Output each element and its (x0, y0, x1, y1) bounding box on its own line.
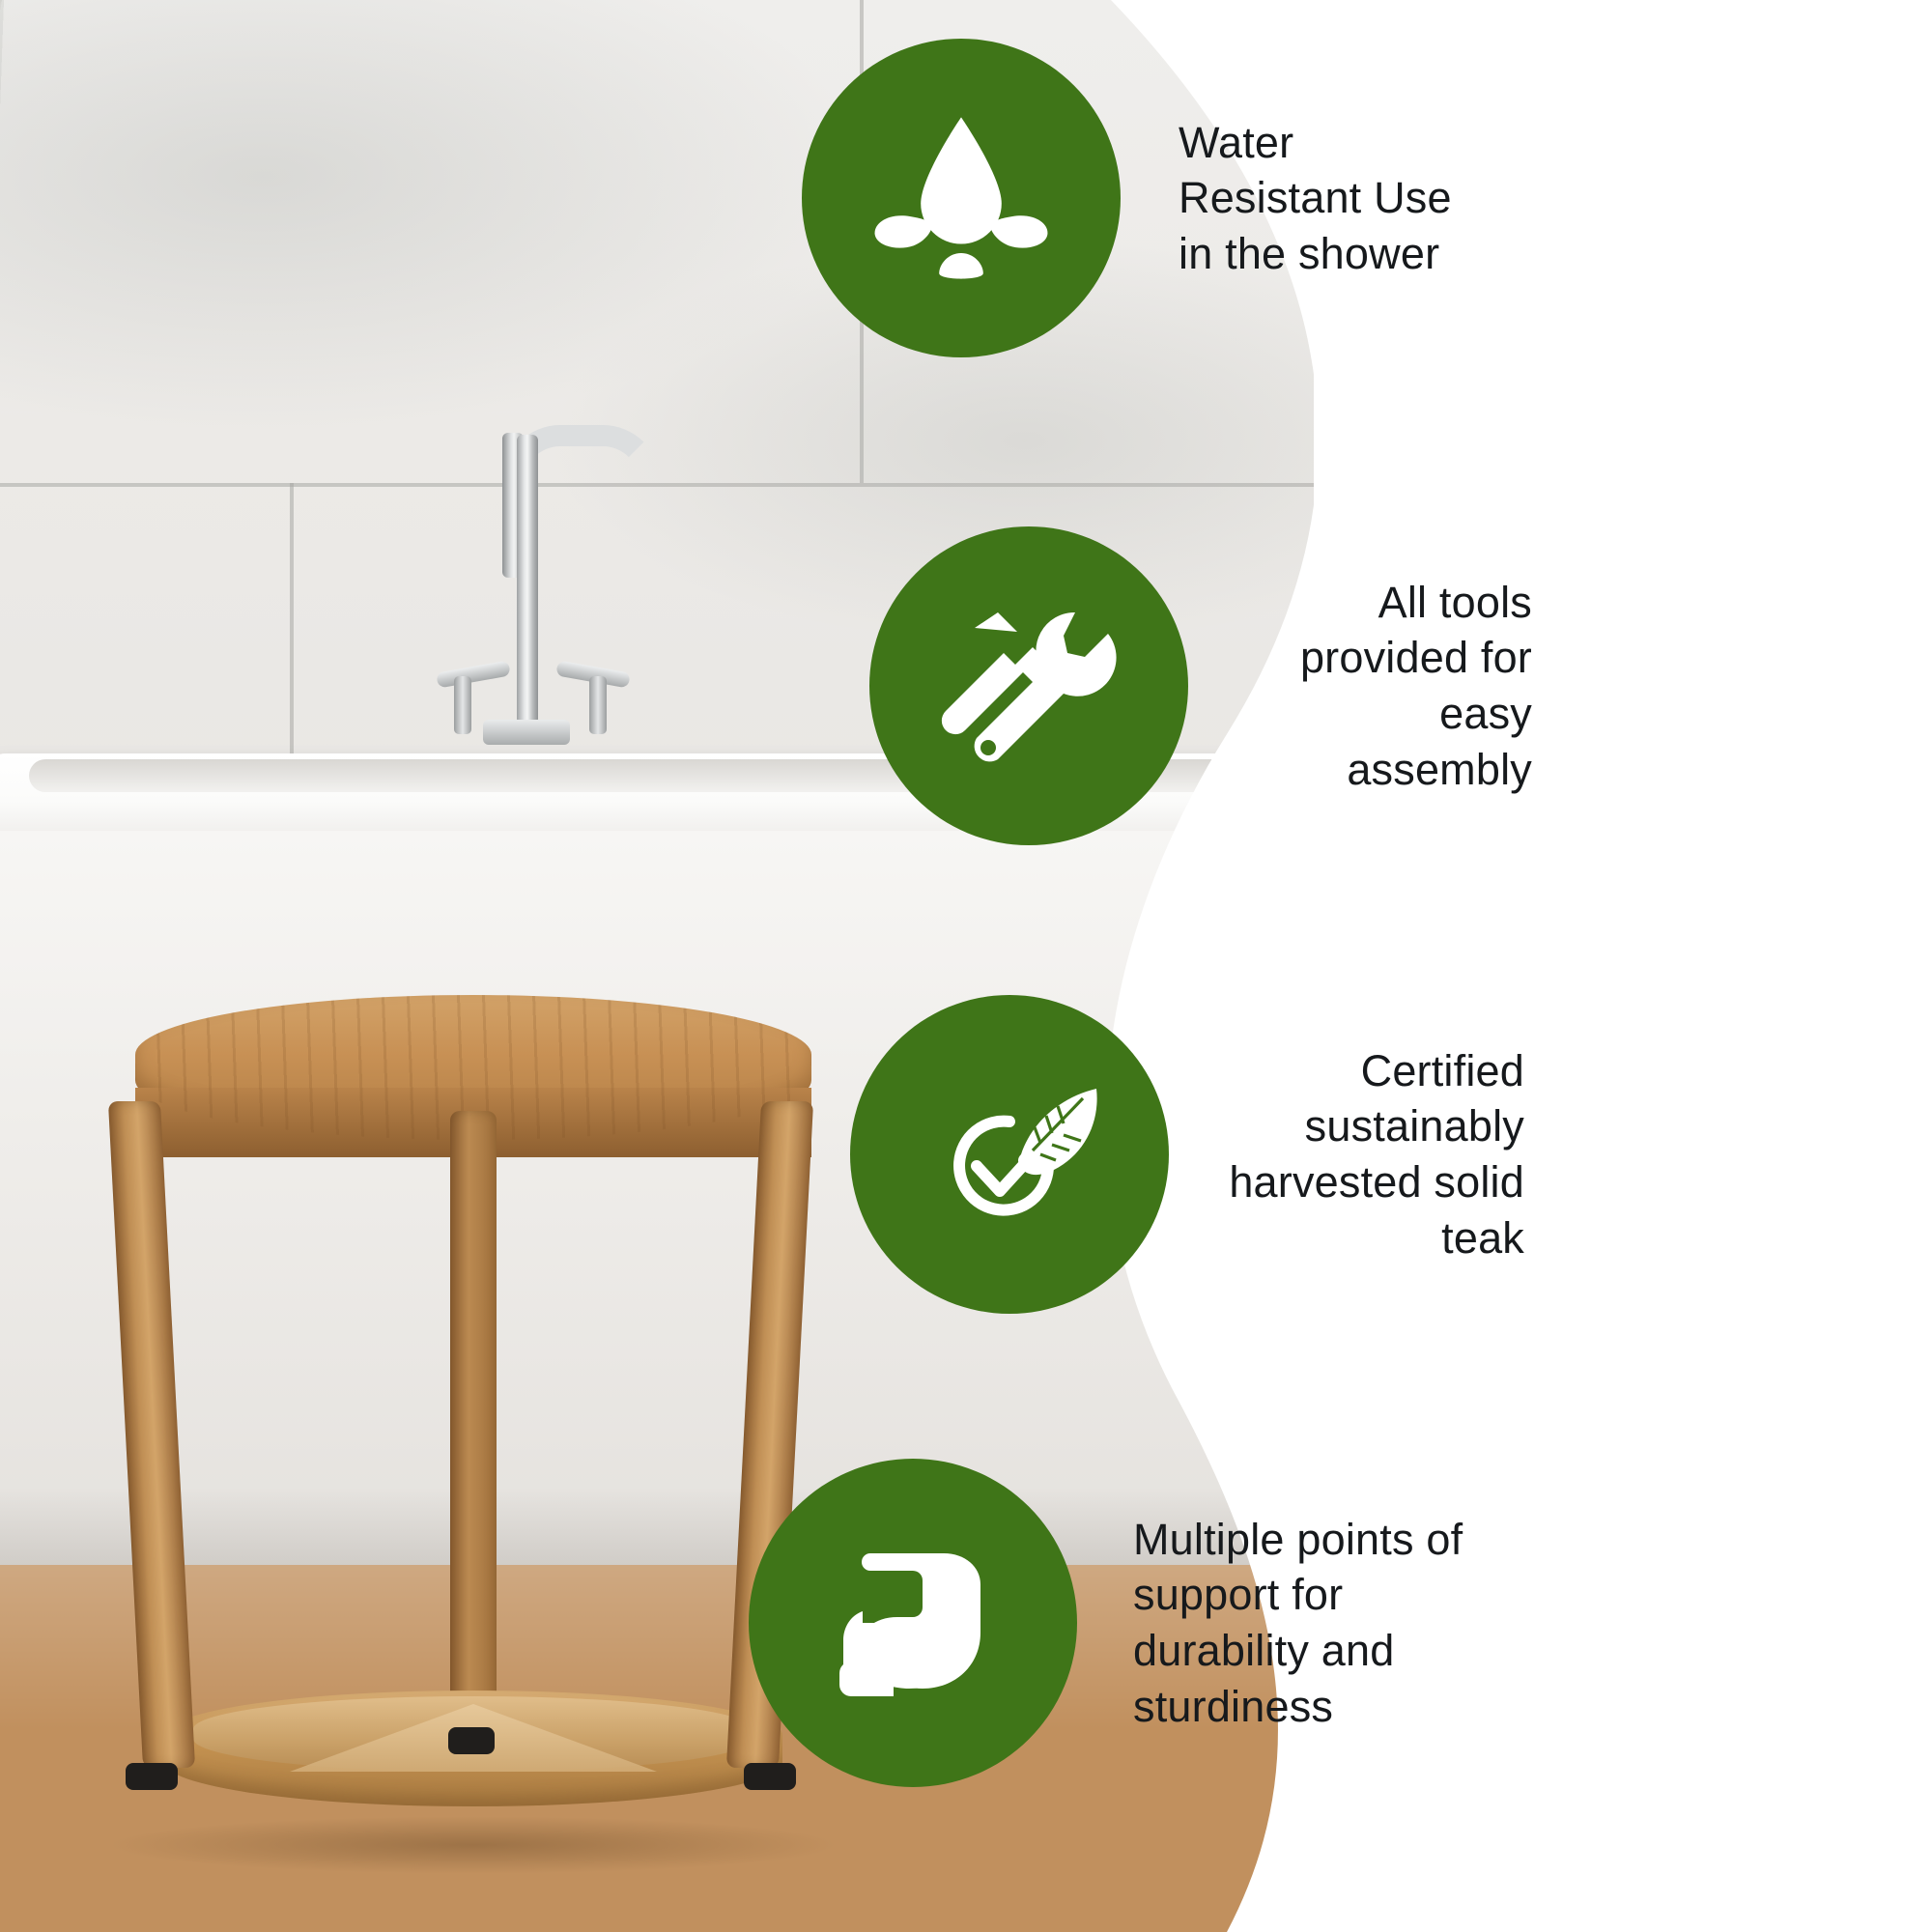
teak-shower-stool (126, 995, 821, 1835)
feature-list: Water Resistant Use in the shower All to… (898, 0, 1932, 1932)
stool-foot-left (126, 1763, 178, 1790)
feature-text: Water Resistant Use in the shower (1179, 115, 1468, 282)
leaf-check-icon (850, 995, 1169, 1314)
stool-foot-center (448, 1727, 495, 1754)
feature-text: Multiple points of support for durabilit… (1133, 1512, 1471, 1734)
feature-item-sustainably-harvested: Certified sustainably harvested solid te… (850, 995, 1524, 1314)
water-drop-icon (802, 39, 1121, 357)
faucet-base (483, 720, 570, 745)
hammer-wrench-icon (869, 526, 1188, 845)
faucet-body (517, 435, 538, 724)
feature-item-multiple-support-points: Multiple points of support for durabilit… (749, 1459, 1471, 1787)
faucet-handle-stem-right (589, 676, 607, 734)
faucet-handle-stem-left (454, 676, 471, 734)
feature-text: Certified sustainably harvested solid te… (1225, 1043, 1524, 1265)
product-feature-graphic: Water Resistant Use in the shower All to… (0, 0, 1932, 1932)
feature-item-tools-provided: All tools provided for easy assembly (869, 526, 1532, 845)
stool-leg-center (450, 1111, 497, 1729)
feature-item-water-resistant: Water Resistant Use in the shower (802, 39, 1468, 357)
feature-text: All tools provided for easy assembly (1242, 575, 1532, 797)
flexed-bicep-icon (749, 1459, 1077, 1787)
